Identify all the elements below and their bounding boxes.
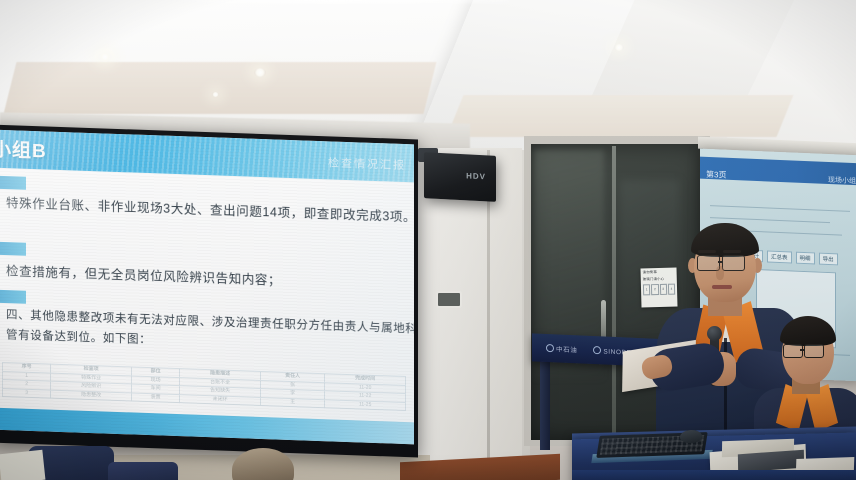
presenter-mouth [712, 285, 732, 289]
slide-body-line: 特殊作业台账、非作业现场3大处、查出问题14项，即查即改完成3项。 [6, 192, 414, 225]
table-cell: 王 [260, 397, 324, 408]
desk-cloth-edge [572, 470, 856, 480]
wall-speaker[interactable]: HDV [424, 152, 496, 202]
presenter-nose [716, 266, 724, 280]
table-cell: 未闭环 [180, 394, 261, 405]
logo-mark-icon [593, 346, 601, 354]
microphone-capsule-icon [707, 326, 722, 341]
downlight-icon [98, 52, 112, 62]
glasses-bridge [800, 349, 805, 351]
wall-switch-plate[interactable] [438, 293, 460, 306]
ceiling-cove-light [149, 0, 512, 3]
slide-content: 设小组B 检查情况汇报 特殊作业台账、非作业现场3大处、查出问题14项，即查即改… [0, 130, 414, 445]
ceiling [0, 0, 856, 150]
slide-title: 设小组B [0, 134, 47, 164]
downlight-icon [614, 44, 624, 51]
banner-stand [540, 360, 550, 450]
slide-header-bar: 设小组B 检查情况汇报 [0, 130, 414, 183]
slide-body-line: 管有设备达到位。如下图： [6, 326, 151, 347]
conference-room-photo: 设小组B 检查情况汇报 特殊作业台账、非作业现场3大处、查出问题14项，即查即改… [0, 0, 856, 480]
glasses-icon [722, 255, 745, 271]
slide-bullet-marker [0, 289, 26, 303]
ceiling-recess-right [447, 95, 794, 137]
table-cell: 装置 [131, 392, 179, 402]
banner-logo: 中石油 [546, 343, 577, 354]
speaker-brand-label: HDV [466, 171, 486, 181]
banner-logo-label: 中石油 [556, 343, 577, 354]
slide-body-line: 检查措施有，但无全员岗位风险辨识告知内容； [6, 260, 281, 289]
downlight-icon [212, 92, 219, 97]
presenter-eyebrow-left [698, 250, 716, 253]
ceiling-recess-left [4, 62, 437, 114]
presenter-eyebrow-right [723, 250, 741, 253]
glasses-bridge [718, 261, 723, 263]
chair-back [108, 462, 178, 480]
downlight-icon [254, 68, 266, 77]
table-cell: 3 [3, 388, 51, 398]
attendee-paper [0, 450, 45, 480]
glasses-icon [804, 344, 824, 358]
logo-mark-icon [546, 344, 554, 352]
slide-header-subtitle: 检查情况汇报 [328, 154, 406, 173]
glass-door-mullion [612, 146, 616, 438]
table-cell: 11-25 [325, 399, 406, 410]
glasses-icon [783, 344, 803, 358]
slide-bullet-marker [0, 175, 26, 189]
slide-bullet-marker [0, 241, 26, 255]
table-cell: 隐患整改 [51, 390, 132, 401]
colleague-hair [780, 316, 836, 346]
projection-screen-main[interactable]: 设小组B 检查情况汇报 特殊作业台账、非作业现场3大处、查出问题14项，即查即改… [0, 125, 418, 458]
